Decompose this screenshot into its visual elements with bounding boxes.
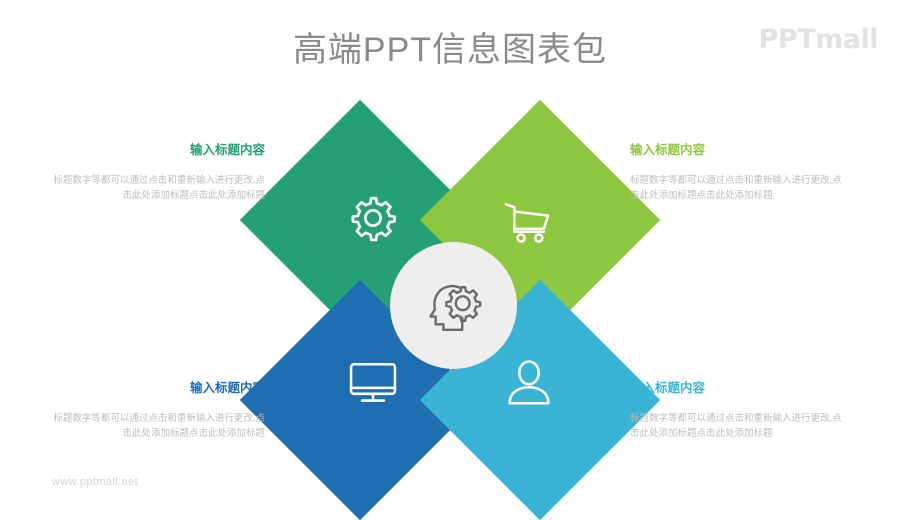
caption-bottom-right: 输入标题内容 标题数字等都可以通过点击和重新输入进行更改,点击此处添加标题点击此… (630, 380, 845, 442)
caption-bottom-right-body: 标题数字等都可以通过点击和重新输入进行更改,点击此处添加标题点击此处添加标题 (630, 411, 845, 442)
caption-bottom-left-body: 标题数字等都可以通过点击和重新输入进行更改,点击此处添加标题点击此处添加标题 (50, 411, 265, 442)
caption-bottom-right-title: 输入标题内容 (630, 380, 845, 398)
head-gear-icon (421, 273, 487, 339)
caption-top-right-title: 输入标题内容 (630, 142, 845, 160)
footer-url: www.pptmall.net (52, 476, 138, 488)
caption-top-left-body: 标题数字等都可以通过点击和重新输入进行更改,点击此处添加标题点击此处添加标题 (50, 173, 265, 204)
caption-top-right: 输入标题内容 标题数字等都可以通过点击和重新输入进行更改,点击此处添加标题点击此… (630, 142, 845, 204)
shopping-cart-icon (500, 195, 554, 249)
user-icon (502, 356, 556, 410)
monitor-icon (346, 355, 400, 409)
caption-top-right-body: 标题数字等都可以通过点击和重新输入进行更改,点击此处添加标题点击此处添加标题 (630, 173, 845, 204)
brand-logo: PPTmall (759, 24, 878, 55)
gear-icon (346, 191, 400, 245)
caption-bottom-left-title: 输入标题内容 (50, 380, 265, 398)
caption-top-left-title: 输入标题内容 (50, 142, 265, 160)
quadrant-diagram (280, 140, 620, 480)
center-circle[interactable] (390, 242, 517, 369)
caption-bottom-left: 输入标题内容 标题数字等都可以通过点击和重新输入进行更改,点击此处添加标题点击此… (50, 380, 265, 442)
caption-top-left: 输入标题内容 标题数字等都可以通过点击和重新输入进行更改,点击此处添加标题点击此… (50, 142, 265, 204)
